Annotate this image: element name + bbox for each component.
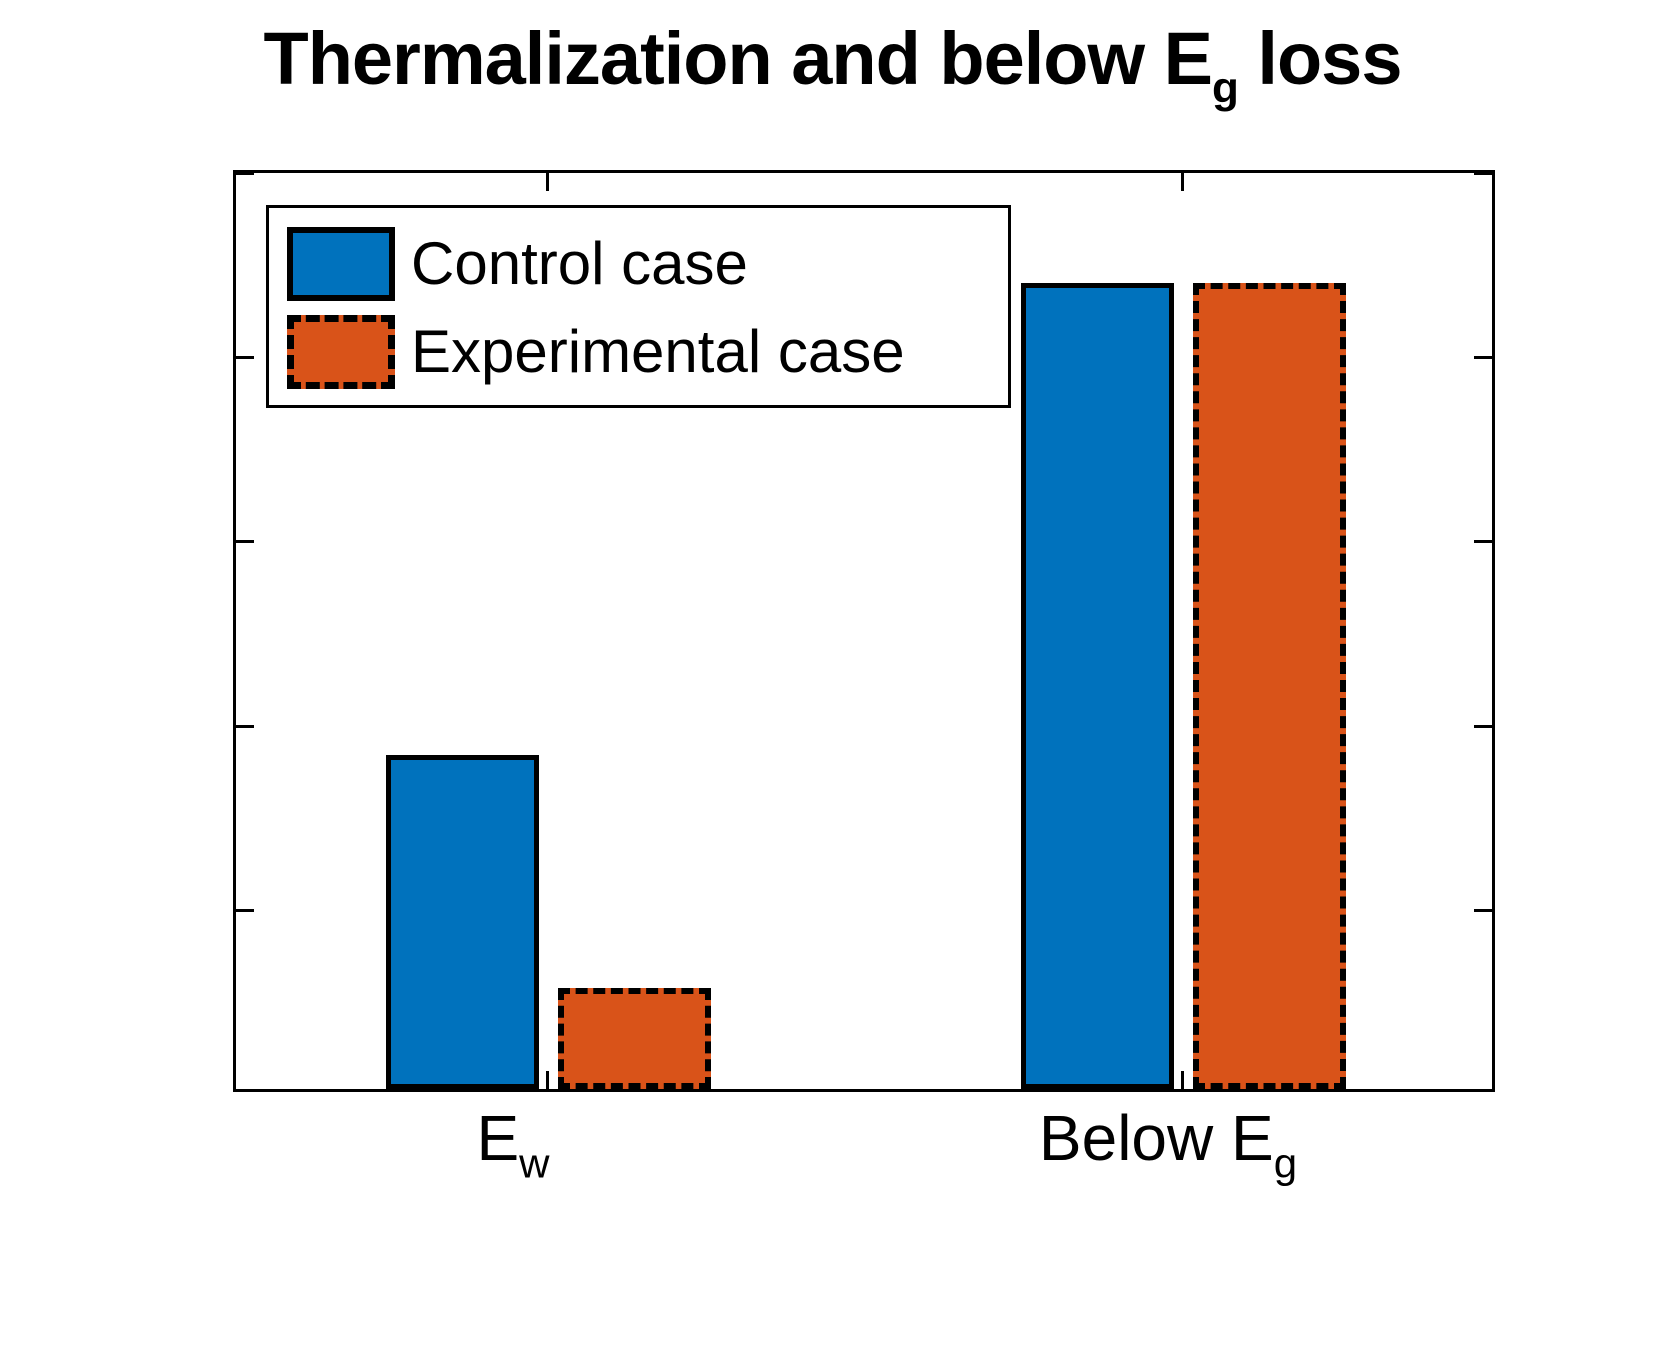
chart-figure: Thermalization and below Eg loss Percent… xyxy=(0,0,1665,1345)
legend-item-control: Control case xyxy=(287,220,1008,308)
legend-item-experimental: Experimental case xyxy=(287,308,1008,396)
legend-swatch-experimental xyxy=(287,315,395,389)
y-tick-20-right xyxy=(1474,725,1492,728)
legend: Control case Experimental case xyxy=(266,205,1011,408)
legend-label-control: Control case xyxy=(411,234,748,294)
x-tick-group-1 xyxy=(546,1071,549,1089)
x-tick-group-1-top xyxy=(546,173,549,191)
y-tick-30 xyxy=(236,540,254,543)
y-tick-50-right xyxy=(1474,172,1492,175)
chart-title-main: Thermalization and below E xyxy=(264,17,1212,100)
bar-control-ew xyxy=(386,755,539,1089)
bar-experimental-ew xyxy=(558,988,711,1089)
chart-title-subscript: g xyxy=(1212,63,1238,112)
bar-experimental-below-eg xyxy=(1193,283,1346,1089)
x-tick-group-2-top xyxy=(1181,173,1184,191)
y-tick-30-right xyxy=(1474,540,1492,543)
x-category-label-below-eg-subscript: g xyxy=(1274,1140,1297,1187)
y-tick-10-right xyxy=(1474,909,1492,912)
y-tick-50 xyxy=(236,172,254,175)
x-category-label-ew-subscript: w xyxy=(519,1140,549,1187)
y-tick-10 xyxy=(236,909,254,912)
x-category-label-below-eg-main: Below E xyxy=(1039,1102,1274,1174)
legend-swatch-control xyxy=(287,227,395,301)
y-tick-40-right xyxy=(1474,356,1492,359)
x-category-label-below-eg: Below Eg xyxy=(938,1106,1398,1185)
y-tick-20 xyxy=(236,725,254,728)
x-tick-group-2 xyxy=(1181,1071,1184,1089)
chart-title-tail: loss xyxy=(1238,17,1402,100)
legend-label-experimental: Experimental case xyxy=(411,322,905,382)
bar-control-below-eg xyxy=(1021,283,1174,1089)
plot-area: 50 40 30 20 10 0 Control case xyxy=(233,170,1495,1092)
x-category-label-ew: Ew xyxy=(393,1106,633,1185)
chart-title: Thermalization and below Eg loss xyxy=(0,22,1665,110)
x-category-label-ew-main: E xyxy=(476,1102,519,1174)
y-tick-40 xyxy=(236,356,254,359)
